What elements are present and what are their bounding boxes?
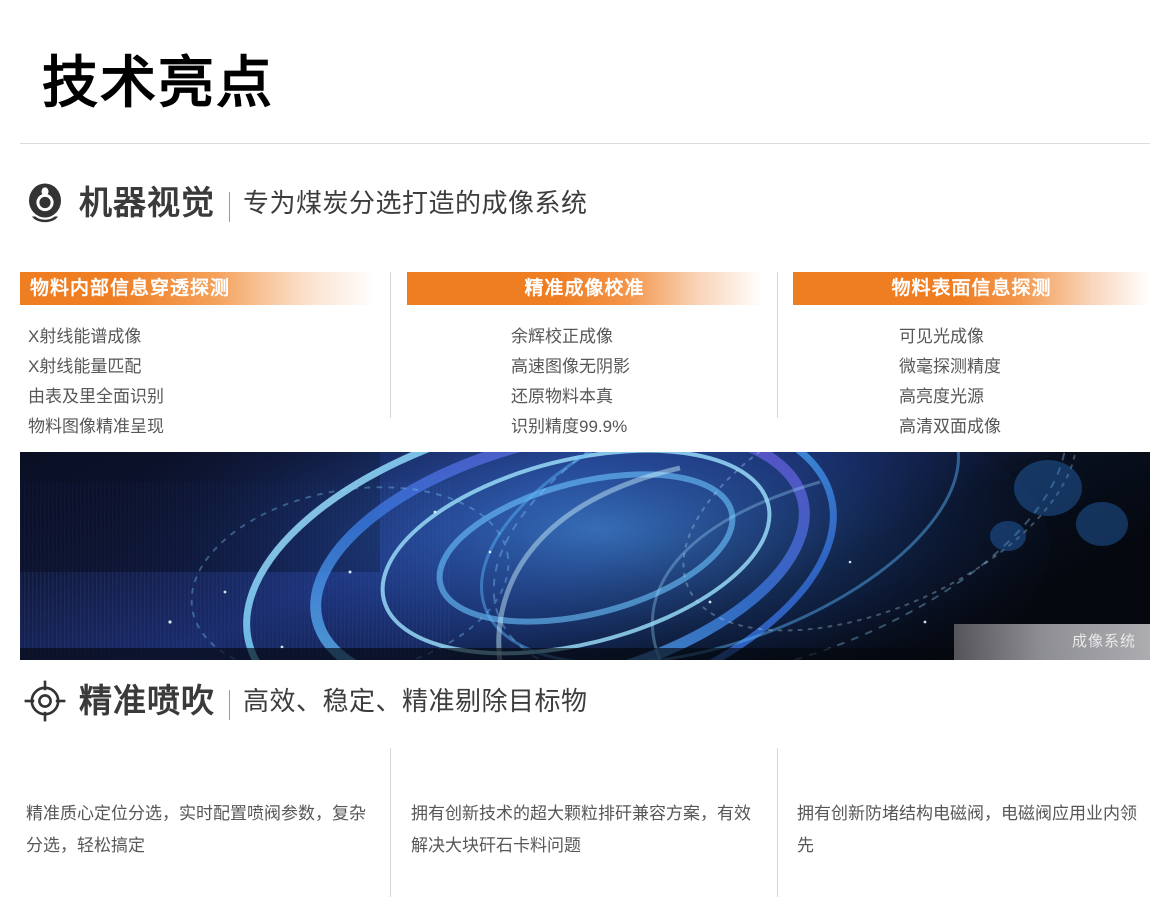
list-item: 物料图像精准呈现 [28, 412, 164, 442]
section-heading-precision-ejection: 精准喷吹 高效、稳定、精准剔除目标物 [24, 680, 588, 722]
technical-highlights-page: 技术亮点 机器视觉 专为煤炭分选打造的成像系统 物料内部信息穿透探测 精准成像校… [0, 0, 1170, 897]
section-title: 精准喷吹 [79, 681, 215, 721]
feature-list-3: 可见光成像 微毫探测精度 高亮度光源 高清双面成像 [899, 322, 1001, 442]
feature-banner-3: 物料表面信息探测 [793, 272, 1150, 305]
card-body-3: 拥有创新防堵结构电磁阀，电磁阀应用业内领先 [797, 798, 1149, 862]
card-banner-1: 自适应精准喷吹 [20, 752, 350, 784]
list-item: X射线能谱成像 [28, 322, 164, 352]
hero-image: 成像系统 [20, 452, 1150, 660]
feature-list-2: 余辉校正成像 高速图像无阴影 还原物料本真 识别精度99.9% [511, 322, 630, 442]
crosshair-target-icon [24, 680, 66, 722]
card-divider-1 [390, 748, 391, 897]
section-title-separator [229, 690, 230, 720]
section-subtitle: 高效、稳定、精准剔除目标物 [243, 681, 588, 721]
list-item: X射线能量匹配 [28, 352, 164, 382]
card-body-2: 拥有创新技术的超大颗粒排矸兼容方案，有效解决大块矸石卡料问题 [411, 798, 763, 862]
feature-banner-1: 物料内部信息穿透探测 [20, 272, 375, 305]
camera-vision-icon [24, 182, 66, 224]
list-item: 识别精度99.9% [511, 412, 630, 442]
card-banner-3: 煤炭专用电磁阀 [793, 752, 1123, 784]
section-heading-machine-vision: 机器视觉 专为煤炭分选打造的成像系统 [24, 182, 588, 224]
column-divider-2 [777, 272, 778, 418]
page-title: 技术亮点 [42, 52, 274, 114]
feature-banner-2: 精准成像校准 [407, 272, 762, 305]
column-divider-1 [390, 272, 391, 418]
hero-caption: 成像系统 [954, 624, 1150, 660]
section-title: 机器视觉 [79, 183, 215, 223]
list-item: 余辉校正成像 [511, 322, 630, 352]
section-subtitle: 专为煤炭分选打造的成像系统 [243, 183, 588, 223]
title-divider [20, 143, 1150, 144]
card-divider-2 [777, 748, 778, 897]
list-item: 微毫探测精度 [899, 352, 1001, 382]
list-item: 高速图像无阴影 [511, 352, 630, 382]
list-item: 可见光成像 [899, 322, 1001, 352]
list-item: 还原物料本真 [511, 382, 630, 412]
card-body-1: 精准质心定位分选，实时配置喷阀参数，复杂分选，轻松搞定 [26, 798, 378, 862]
card-banner-2: 超大颗粒解决方案 [407, 752, 737, 784]
list-item: 高亮度光源 [899, 382, 1001, 412]
section-title-separator [229, 192, 230, 222]
feature-list-1: X射线能谱成像 X射线能量匹配 由表及里全面识别 物料图像精准呈现 [28, 322, 164, 442]
list-item: 高清双面成像 [899, 412, 1001, 442]
list-item: 由表及里全面识别 [28, 382, 164, 412]
